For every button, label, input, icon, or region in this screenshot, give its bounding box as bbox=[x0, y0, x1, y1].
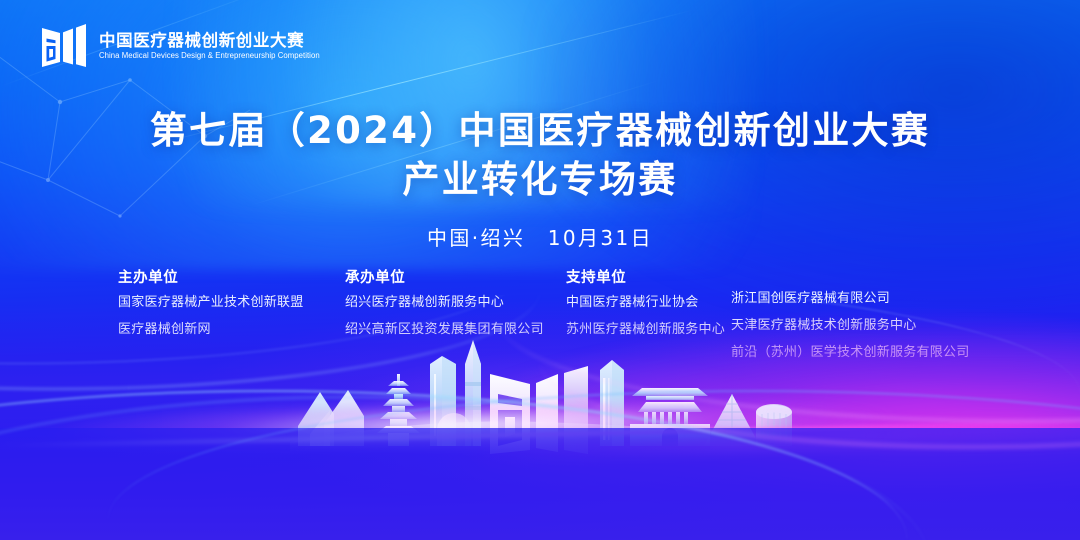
poster-canvas: 中国医疗器械创新创业大赛 China Medical Devices Desig… bbox=[0, 0, 1080, 540]
competition-logo: 中国医疗器械创新创业大赛 China Medical Devices Desig… bbox=[40, 22, 327, 68]
event-location-date: 中国·绍兴 10月31日 bbox=[0, 222, 1080, 251]
open-book-door-emblem-icon bbox=[40, 22, 88, 68]
page-title-line2: 产业转化专场赛 bbox=[0, 157, 1080, 204]
organizer-heading: 支持单位 bbox=[566, 266, 731, 287]
organizer-heading: 承办单位 bbox=[345, 266, 566, 287]
hero-titles: 第七届（2024）中国医疗器械创新创业大赛 产业转化专场赛 中国·绍兴 10月3… bbox=[0, 108, 1080, 251]
logo-chinese-name: 中国医疗器械创新创业大赛 bbox=[99, 33, 327, 50]
logo-english-name: China Medical Devices Design & Entrepren… bbox=[99, 52, 320, 60]
page-title-line1: 第七届（2024）中国医疗器械创新创业大赛 bbox=[0, 108, 1080, 155]
organizer-heading: 主办单位 bbox=[118, 266, 345, 287]
city-skyline-scene bbox=[0, 295, 1080, 540]
